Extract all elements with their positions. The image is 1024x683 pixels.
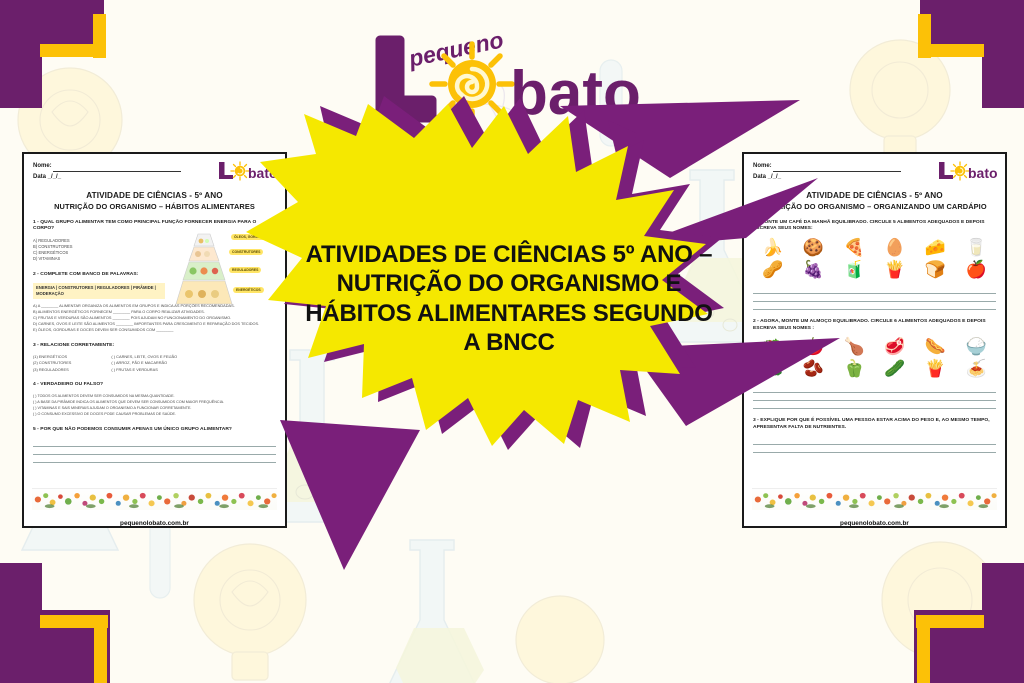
- food-icon-bread-loaf[interactable]: 🍞: [916, 259, 956, 280]
- food-icon-eggs[interactable]: 🥚: [875, 237, 915, 258]
- worksheet-left-name-field[interactable]: [53, 164, 181, 172]
- food-icon-sausages[interactable]: 🌭: [916, 336, 956, 357]
- q3-right-item[interactable]: ( ) FRUTAS E VERDURAS: [111, 367, 177, 373]
- food-border-decoration-right: [752, 488, 997, 510]
- corner-accent-top-right-v: [918, 14, 931, 58]
- corner-accent-bottom-right-v: [917, 615, 930, 683]
- food-icon-rice-bowl[interactable]: 🍚: [956, 336, 996, 357]
- food-icon-apple[interactable]: 🍎: [956, 259, 996, 280]
- burst-title-text: ATIVIDADES DE CIÊNCIAS 5º ANO – NUTRIÇÃO…: [300, 240, 718, 357]
- q3-right-column: ( ) CARNES, LEITE, OVOS E FEIJÃO ( ) ARR…: [111, 354, 177, 373]
- corner-decoration-bottom-right-2: [982, 563, 1024, 683]
- worksheet-right-url: pequenolobato.com.br: [742, 520, 1007, 527]
- svg-text:bato: bato: [968, 165, 997, 181]
- corner-accent-top-left-v: [93, 14, 106, 58]
- food-icon-yogurt[interactable]: 🥛: [956, 237, 996, 258]
- q3-left-item: (2) CONSTRUTORES: [33, 360, 71, 366]
- corner-decoration-top-left-2: [0, 0, 42, 108]
- food-icon-cucumber[interactable]: 🥒: [875, 358, 915, 379]
- corner-accent-bottom-left-v: [94, 615, 107, 683]
- worksheet-left-url: pequenolobato.com.br: [22, 520, 287, 527]
- corner-decoration-bottom-left-2: [0, 563, 42, 683]
- food-icon-french-fries[interactable]: 🍟: [875, 259, 915, 280]
- worksheet-left-date-label: Data: [33, 174, 46, 180]
- food-icon-pasta[interactable]: 🍝: [956, 358, 996, 379]
- worksheet-left-wordbank: ENERGIA | CONSTRUTORES | REGULADORES | P…: [33, 283, 165, 299]
- answer-line[interactable]: [33, 455, 276, 463]
- worksheet-right-logo-icon: bato: [935, 159, 997, 181]
- worksheet-left-date-field[interactable]: _/_/_: [48, 174, 61, 180]
- worksheet-left-name-label: Nome:: [33, 163, 52, 169]
- food-icon-pizza-slice[interactable]: 🍕: [834, 237, 874, 258]
- q3-left-column: (1) ENERGÉTICOS (2) CONSTRUTORES (3) REG…: [33, 354, 71, 373]
- food-icon-milk-carton[interactable]: 🧃: [834, 259, 874, 280]
- corner-decoration-top-right-2: [982, 0, 1024, 108]
- food-border-decoration-left: [32, 488, 277, 510]
- food-icon-french-fries[interactable]: 🍟: [916, 358, 956, 379]
- food-icon-meat-cuts[interactable]: 🥩: [875, 336, 915, 357]
- food-icon-cheese[interactable]: 🧀: [916, 237, 956, 258]
- q3-left-item: (3) REGULADORES: [33, 367, 71, 373]
